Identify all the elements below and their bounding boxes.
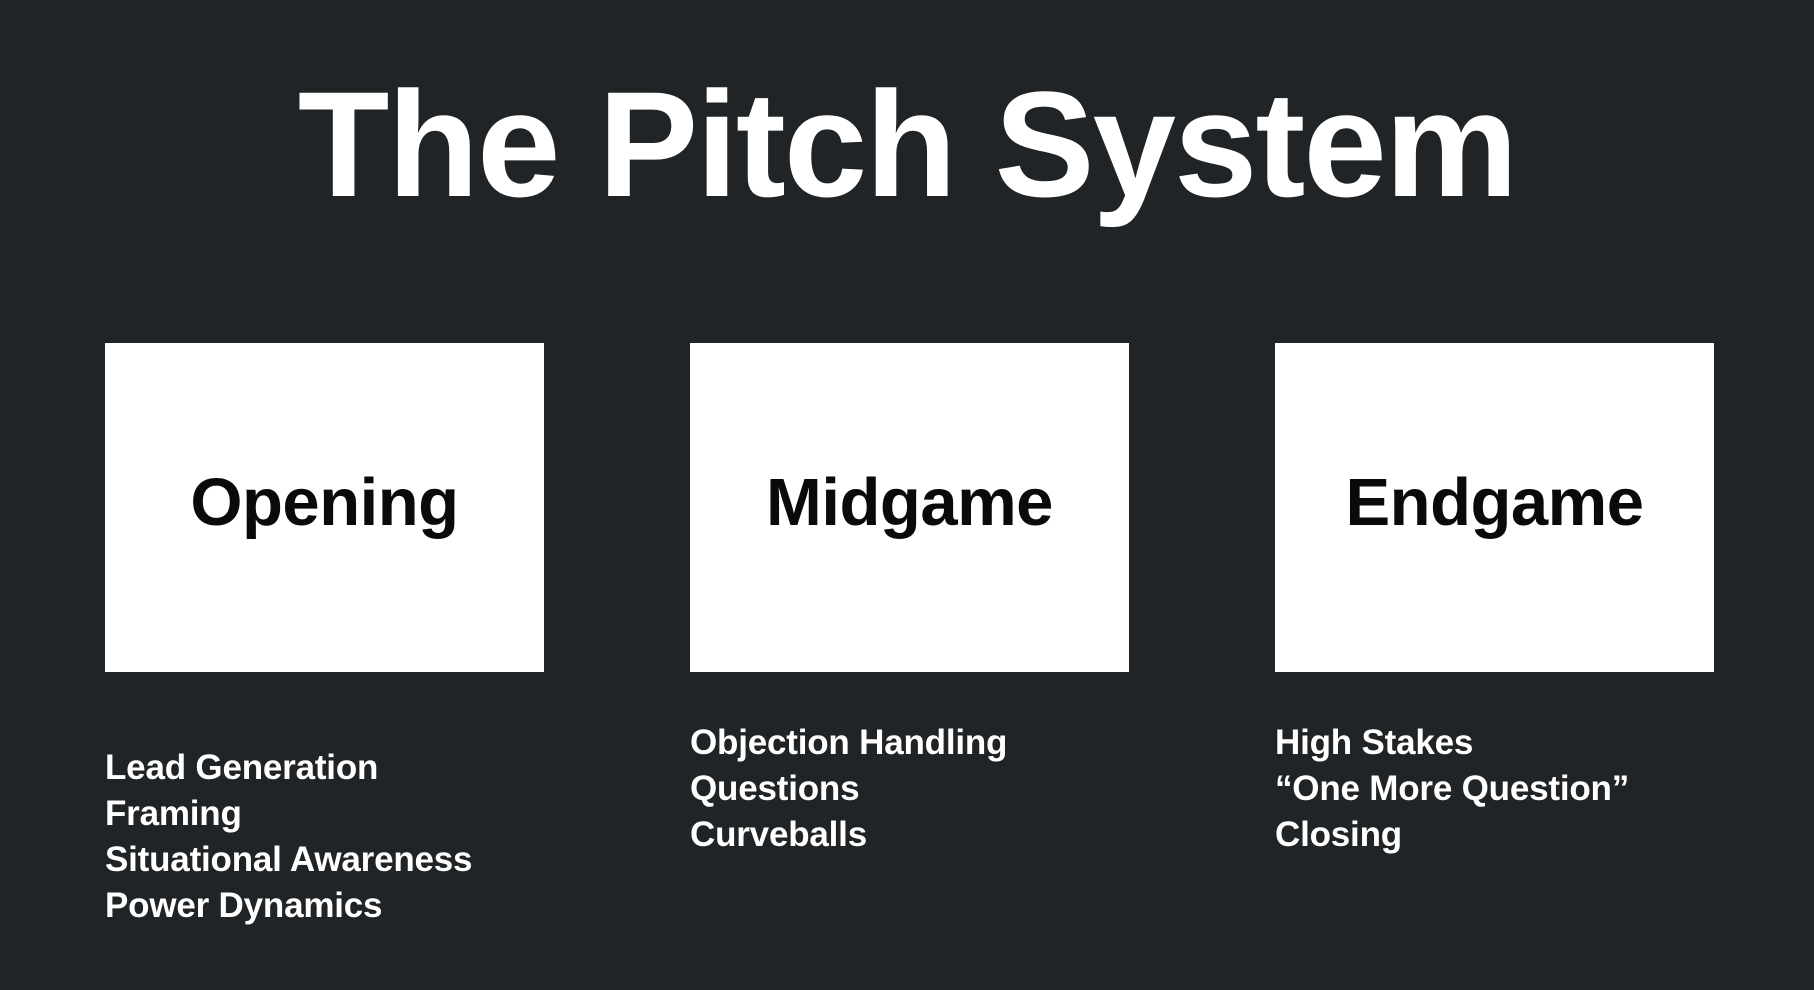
topic-list-endgame: High Stakes “One More Question” Closing — [1275, 720, 1714, 858]
list-item: Lead Generation — [105, 745, 544, 791]
topic-list-opening: Lead Generation Framing Situational Awar… — [105, 745, 544, 929]
phase-card-label-midgame: Midgame — [766, 467, 1053, 539]
list-item: Situational Awareness — [105, 837, 544, 883]
list-item: Questions — [690, 766, 1129, 812]
phase-column-opening: Opening Lead Generation Framing Situatio… — [105, 343, 544, 929]
phase-card-label-endgame: Endgame — [1345, 467, 1643, 539]
phase-card-label-opening: Opening — [190, 467, 458, 539]
slide-canvas: The Pitch System Opening Lead Generation… — [0, 0, 1814, 990]
phase-column-endgame: Endgame High Stakes “One More Question” … — [1275, 343, 1714, 858]
list-item: Framing — [105, 791, 544, 837]
list-item: Objection Handling — [690, 720, 1129, 766]
phase-columns: Opening Lead Generation Framing Situatio… — [105, 343, 1714, 929]
list-item: Closing — [1275, 812, 1714, 858]
page-title: The Pitch System — [0, 60, 1814, 228]
list-item: “One More Question” — [1275, 766, 1714, 812]
phase-card-opening[interactable]: Opening — [105, 343, 544, 672]
phase-card-midgame[interactable]: Midgame — [690, 343, 1129, 672]
list-item: Curveballs — [690, 812, 1129, 858]
phase-column-midgame: Midgame Objection Handling Questions Cur… — [690, 343, 1129, 858]
phase-card-endgame[interactable]: Endgame — [1275, 343, 1714, 672]
list-item: High Stakes — [1275, 720, 1714, 766]
topic-list-midgame: Objection Handling Questions Curveballs — [690, 720, 1129, 858]
list-item: Power Dynamics — [105, 883, 544, 929]
